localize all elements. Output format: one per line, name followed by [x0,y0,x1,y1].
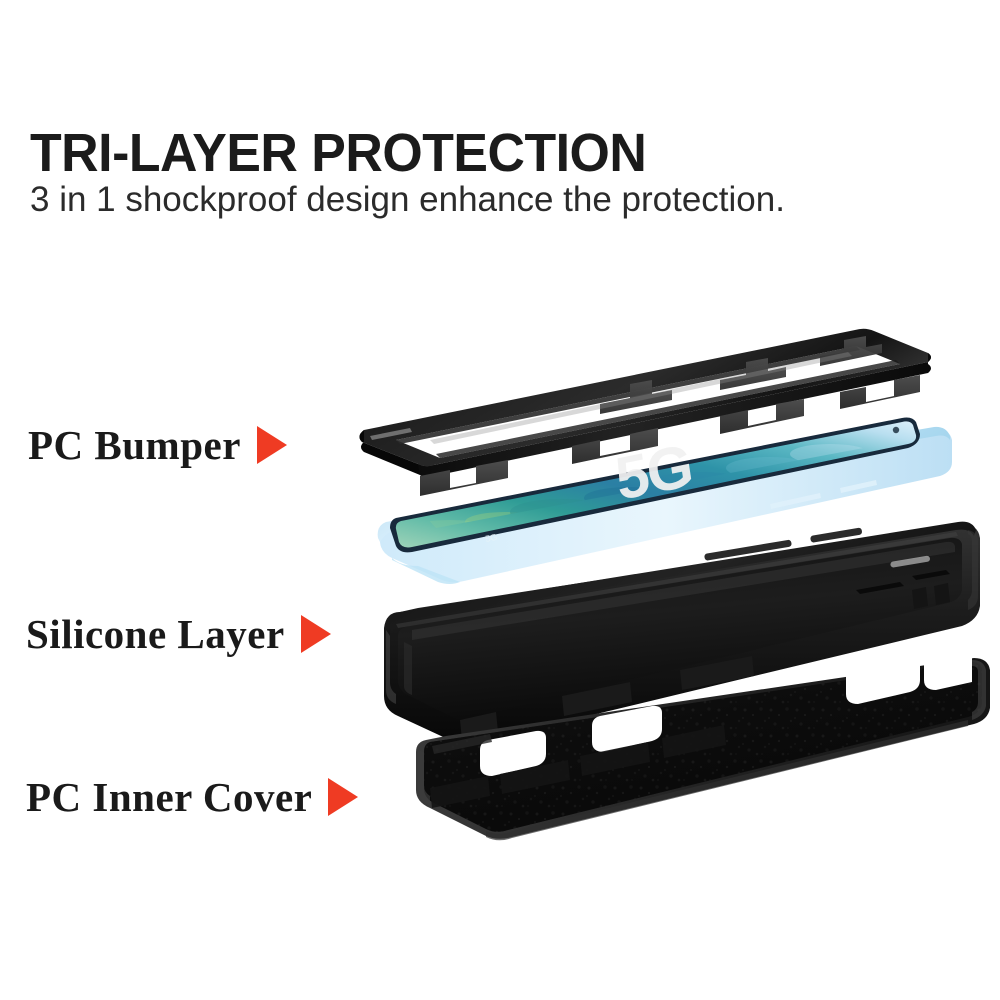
page-title: TRI-LAYER PROTECTION [30,126,932,180]
exploded-product-illustration: 5G 5G [300,290,1000,910]
callout-pc-bumper: PC Bumper [28,423,287,467]
camera-punch-hole [893,427,899,433]
page-subtitle: 3 in 1 shockproof design enhance the pro… [30,180,990,220]
callout-label: Silicone Layer [26,612,285,656]
callout-label: PC Bumper [28,423,241,467]
callout-label: PC Inner Cover [26,775,312,819]
right-triangle-arrow-icon [257,426,287,464]
callout-silicone-layer: Silicone Layer [26,612,331,656]
product-infographic-canvas: TRI-LAYER PROTECTION 3 in 1 shockproof d… [0,0,1000,1000]
